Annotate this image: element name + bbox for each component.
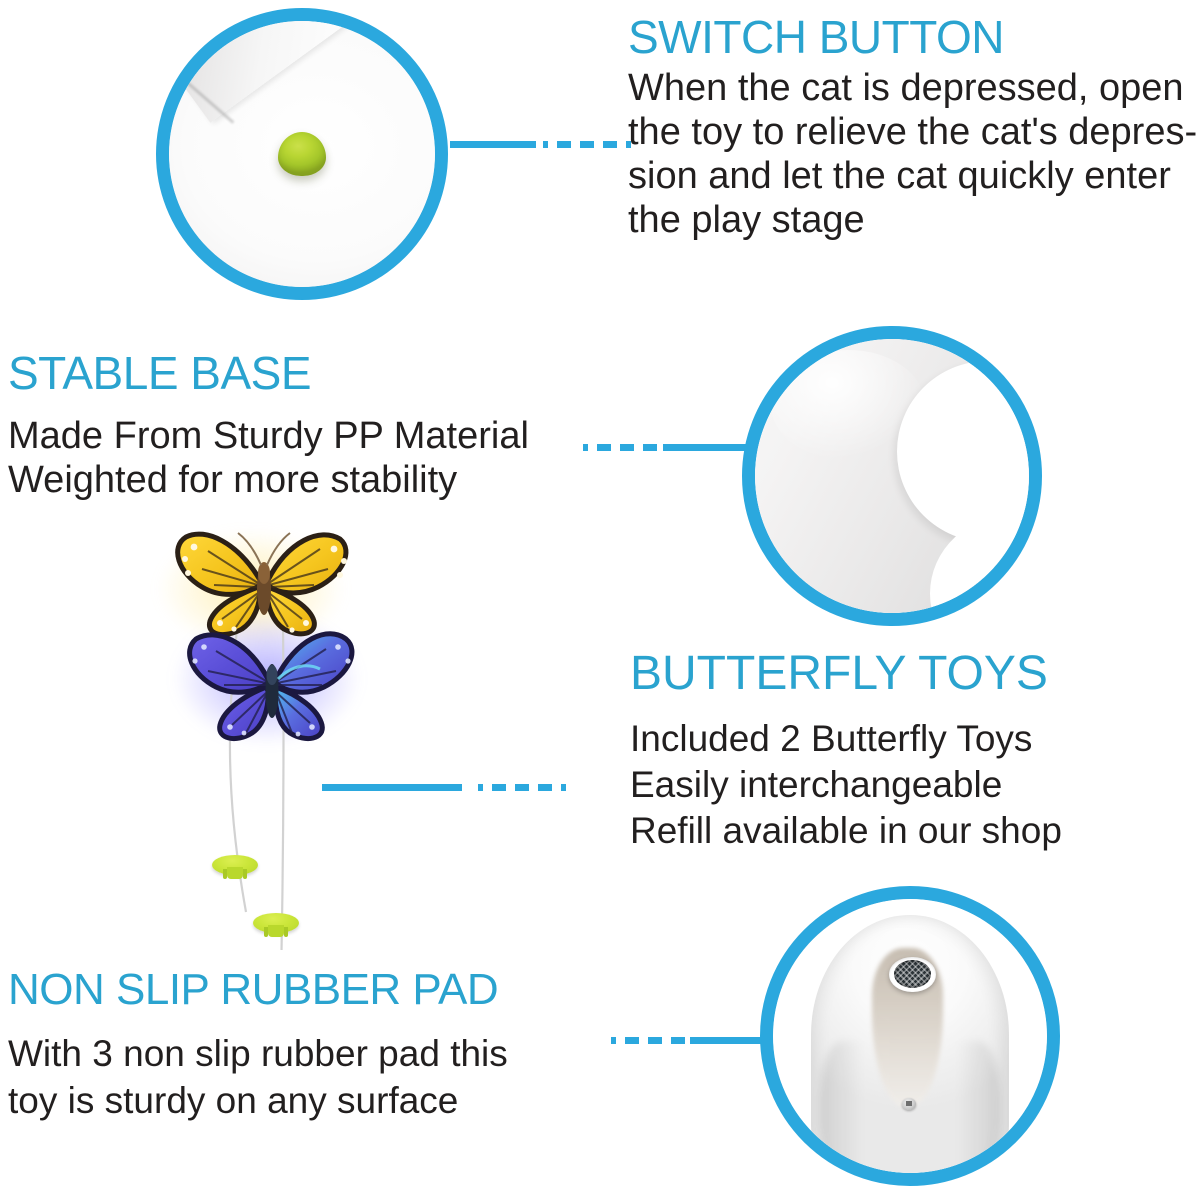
green-disc-lower-prongs (268, 925, 284, 937)
feature-block-non-slip-rubber-pad: NON SLIP RUBBER PAD With 3 non slip rubb… (8, 968, 608, 1125)
feature-body-non-slip-rubber-pad: With 3 non slip rubber pad this toy is s… (8, 1030, 608, 1125)
feature-body-line: When the cat is depressed, open (628, 66, 1200, 110)
connector-line-switch (450, 141, 536, 148)
infographic-canvas: SWITCH BUTTON When the cat is depressed,… (0, 0, 1200, 1200)
feature-body-butterfly-toys: Included 2 Butterfly Toys Easily interch… (630, 716, 1190, 854)
green-switch-button-icon (278, 132, 326, 176)
feature-body-stable-base: Made From Sturdy PP Material Weighted fo… (8, 414, 568, 502)
stable-base-photo (742, 326, 1042, 626)
feature-heading-stable-base: STABLE BASE (8, 350, 568, 396)
connector-dashes-stable-base (583, 444, 671, 451)
connector-dashes-non-slip (611, 1037, 699, 1044)
green-disc-lower (253, 913, 299, 933)
feature-body-line: the toy to relieve the cat's depres- (628, 110, 1200, 154)
non-slip-rubber-pad-photo-inner (773, 899, 1047, 1173)
pp-base-sheen (771, 350, 924, 460)
feature-heading-switch-button: SWITCH BUTTON (628, 14, 1200, 60)
feature-body-line: Included 2 Butterfly Toys (630, 716, 1190, 762)
shell-shadow-left (820, 1041, 864, 1167)
feature-body-line: Refill available in our shop (630, 808, 1190, 854)
feature-block-butterfly-toys: BUTTERFLY TOYS Included 2 Butterfly Toys… (630, 650, 1190, 854)
switch-button-photo (156, 8, 448, 300)
feature-body-line: sion and let the cat quickly enter (628, 154, 1200, 198)
feature-body-switch-button: When the cat is depressed, open the toy … (628, 66, 1200, 242)
feature-body-line: With 3 non slip rubber pad this (8, 1030, 608, 1077)
feature-heading-non-slip-rubber-pad: NON SLIP RUBBER PAD (8, 968, 608, 1012)
screw-icon (902, 1098, 916, 1110)
feature-body-line: Made From Sturdy PP Material (8, 414, 568, 458)
green-disc-upper-prongs (227, 867, 243, 879)
connector-dashes-butterfly (478, 784, 566, 791)
butterfly-toys-photo (150, 525, 380, 945)
feature-body-line: Weighted for more stability (8, 458, 568, 502)
blue-butterfly-icon (180, 617, 365, 752)
feature-body-line: the play stage (628, 198, 1200, 242)
connector-line-butterfly (322, 784, 462, 791)
non-slip-rubber-pad-photo (760, 886, 1060, 1186)
connector-dashes-switch (543, 141, 631, 148)
green-disc-upper (212, 855, 258, 875)
switch-button-photo-inner (169, 21, 435, 287)
stable-base-photo-inner (755, 339, 1029, 613)
feature-heading-butterfly-toys: BUTTERFLY TOYS (630, 650, 1190, 698)
feature-block-stable-base: STABLE BASE Made From Sturdy PP Material… (8, 350, 568, 502)
connector-line-stable-base (663, 444, 755, 451)
shell-shadow-right (957, 1041, 1001, 1167)
feature-body-line: Easily interchangeable (630, 762, 1190, 808)
feature-block-switch-button: SWITCH BUTTON When the cat is depressed,… (628, 14, 1200, 242)
feature-body-line: toy is sturdy on any surface (8, 1077, 608, 1124)
